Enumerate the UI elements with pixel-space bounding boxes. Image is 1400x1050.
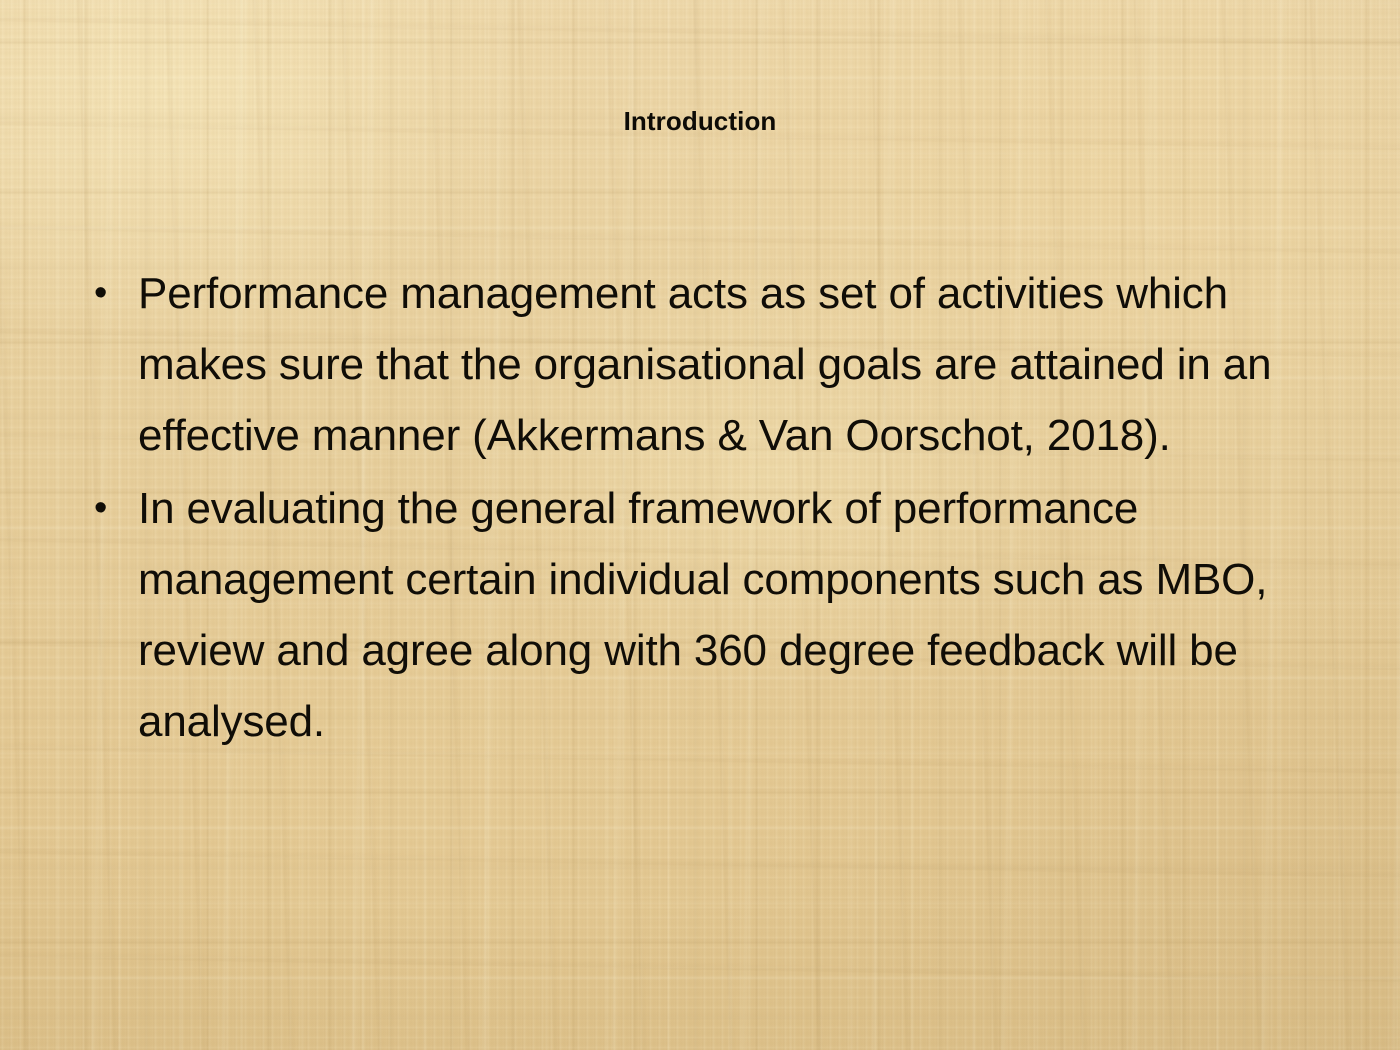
bullet-item: • In evaluating the general framework of… [88, 473, 1328, 757]
bullet-point-icon: • [94, 258, 116, 329]
bullet-list: • Performance management acts as set of … [88, 258, 1328, 759]
bullet-item-text: In evaluating the general framework of p… [138, 473, 1328, 757]
bullet-item: • Performance management acts as set of … [88, 258, 1328, 471]
slide-content: Introduction • Performance management ac… [0, 0, 1400, 1050]
presentation-slide: Introduction • Performance management ac… [0, 0, 1400, 1050]
bullet-item-text: Performance management acts as set of ac… [138, 258, 1328, 471]
slide-title: Introduction [0, 106, 1400, 137]
bullet-point-icon: • [94, 473, 116, 544]
